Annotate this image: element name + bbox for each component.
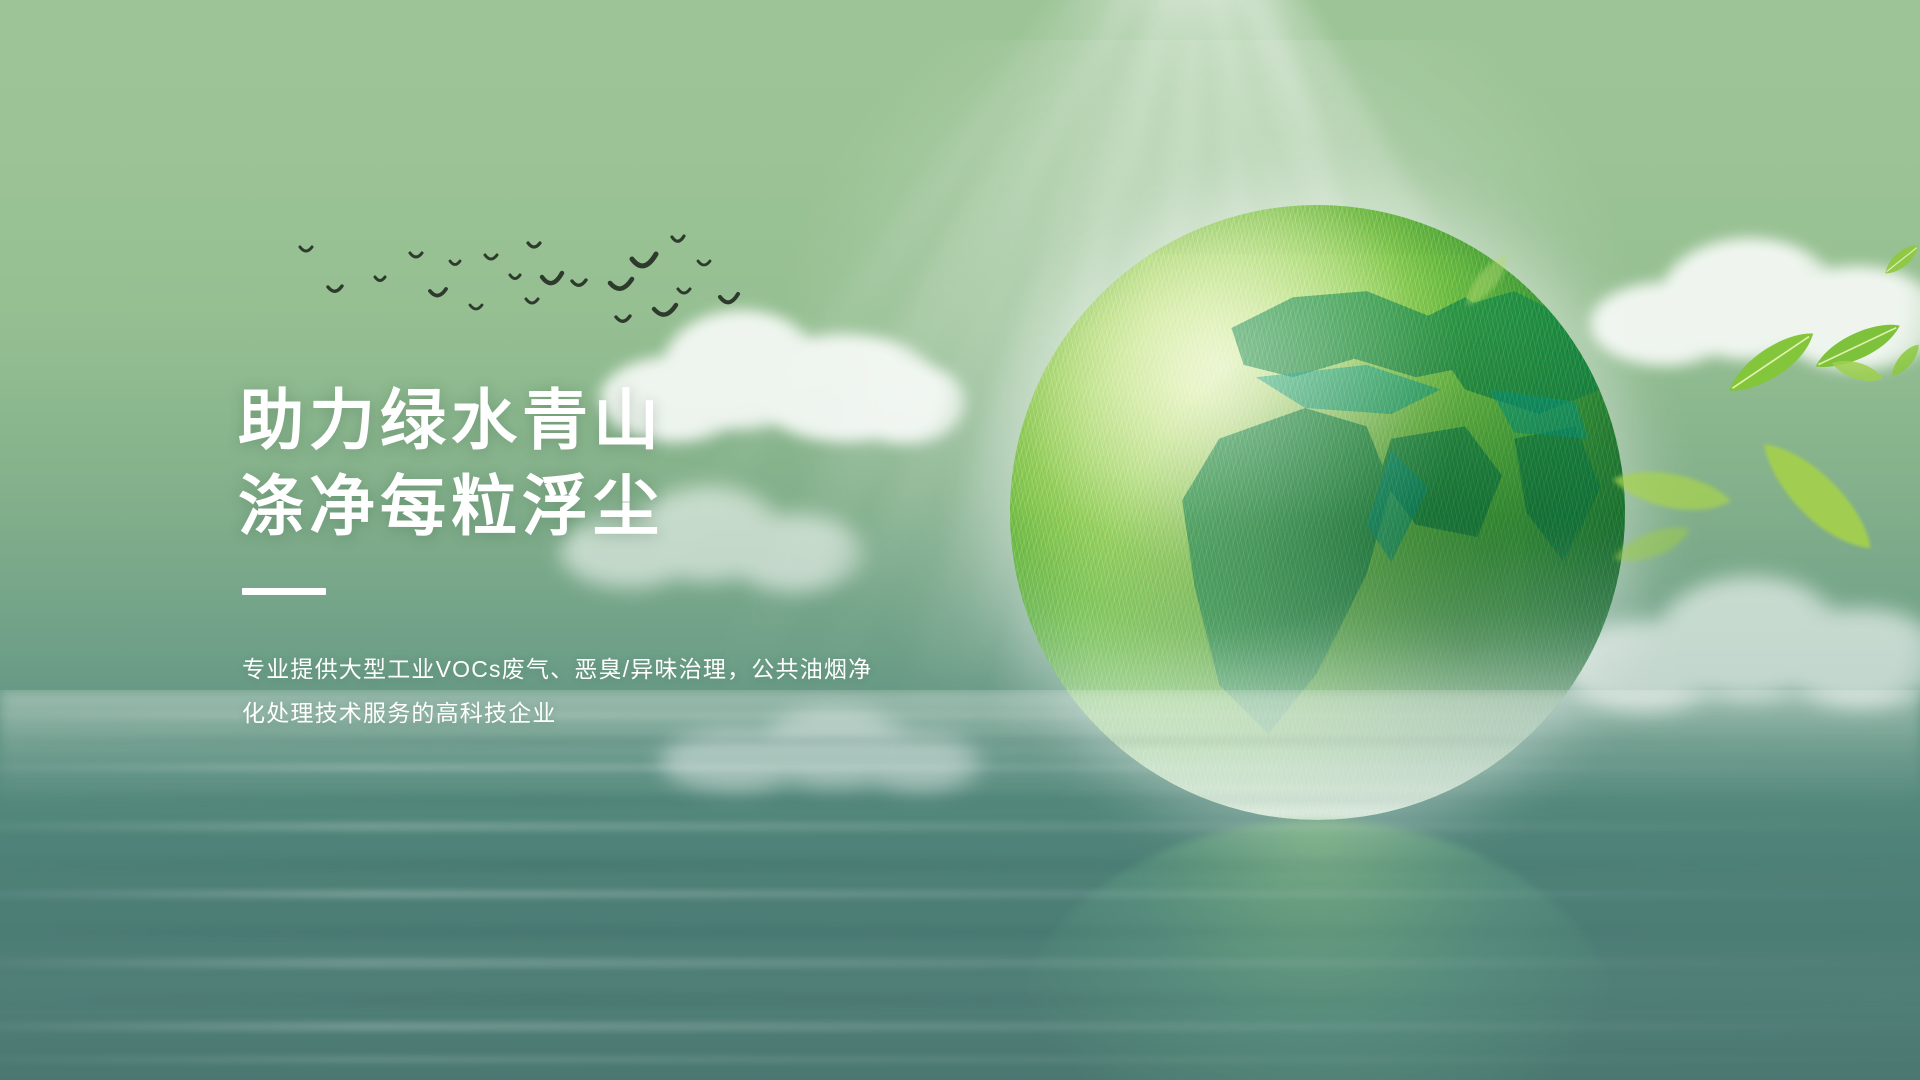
hero-banner: 助力绿水青山 涤净每粒浮尘 专业提供大型工业VOCs废气、恶臭/异味治理，公共油… (0, 0, 1920, 1080)
leaf-right-small-a (1828, 349, 1886, 394)
headline-line-1: 助力绿水青山 (238, 378, 978, 464)
headline-line-2: 涤净每粒浮尘 (238, 464, 978, 550)
leaf-center-right (1717, 325, 1827, 402)
cloud-right-upper (1590, 230, 1920, 380)
accent-rule (242, 588, 326, 595)
flying-birds-flock (280, 225, 750, 365)
leaf-right-small-b (1884, 341, 1920, 381)
leaf-right-mid (1807, 317, 1909, 376)
leaf-lower-center (1606, 449, 1736, 537)
grass-earth-globe (1010, 205, 1625, 820)
water-surface (0, 690, 1920, 1080)
globe-water-reflection (1010, 820, 1625, 1080)
subtitle-line-2: 化处理技术服务的高科技企业 (242, 691, 922, 736)
leaf-lower-right-large (1750, 420, 1880, 576)
subtitle: 专业提供大型工业VOCs废气、恶臭/异味治理，公共油烟净 化处理技术服务的高科技… (242, 647, 922, 737)
leaf-top-right-small (1878, 241, 1920, 279)
banner-copy: 助力绿水青山 涤净每粒浮尘 专业提供大型工业VOCs废气、恶臭/异味治理，公共油… (238, 378, 978, 736)
subtitle-line-1: 专业提供大型工业VOCs废气、恶臭/异味治理，公共油烟净 (242, 647, 922, 692)
